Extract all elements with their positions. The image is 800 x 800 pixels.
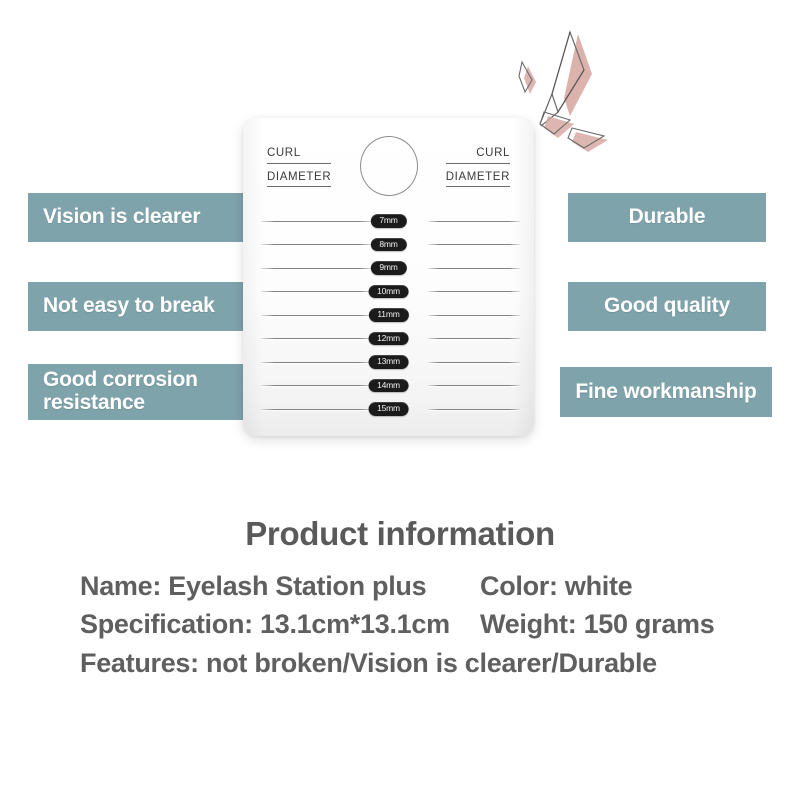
measurement-row: 8mm (243, 234, 534, 256)
info-row-name-color: Name: Eyelash Station plus Color: white (0, 567, 800, 605)
groove-line-right (428, 268, 520, 269)
feature-tag-good-quality: Good quality (568, 282, 766, 331)
feature-tag-good-corrosion-resistance: Good corrosion resistance (28, 364, 243, 420)
size-badge: 7mm (370, 214, 406, 228)
measurement-row: 15mm (243, 398, 534, 420)
feature-tag-label: Durable (629, 206, 706, 229)
info-color-value: Color: white (480, 567, 800, 605)
feature-tag-label: Vision is clearer (43, 206, 200, 229)
feature-tag-label: Fine workmanship (575, 381, 756, 404)
measurement-row: 10mm (243, 281, 534, 303)
tweezer-outline-small-lower-b (568, 128, 604, 148)
tweezer-outline-small-left (519, 62, 532, 92)
feature-tag-label: Good quality (604, 295, 730, 318)
groove-line-right (428, 385, 520, 386)
groove-line-left (261, 315, 373, 316)
groove-line-left (261, 244, 373, 245)
groove-line-left (261, 409, 373, 410)
groove-line-right (428, 409, 520, 410)
groove-line-left (261, 268, 373, 269)
feature-tag-label-multiline: Good corrosion resistance (43, 369, 198, 414)
tweezer-arm-large (540, 32, 570, 124)
curl-label-left: CURL (267, 148, 331, 164)
tweezer-shadow-small-lower-a (544, 116, 574, 138)
size-badge: 12mm (368, 332, 409, 346)
groove-line-right (428, 244, 520, 245)
tweezer-shadow-small-left (524, 66, 536, 94)
info-specification-value: Specification: 13.1cm*13.1cm (80, 605, 480, 643)
feature-tag-vision-is-clearer: Vision is clearer (28, 193, 243, 242)
curl-label-right: CURL (446, 148, 510, 164)
info-row-spec-weight: Specification: 13.1cm*13.1cm Weight: 150… (0, 605, 800, 643)
groove-line-left (261, 291, 373, 292)
groove-line-right (428, 362, 520, 363)
groove-line-right (428, 221, 520, 222)
feature-tag-fine-workmanship: Fine workmanship (560, 367, 772, 417)
groove-line-left (261, 338, 373, 339)
tweezer-outline-large (552, 32, 584, 112)
feature-tag-label-line2: resistance (43, 392, 198, 415)
diameter-label-left: DIAMETER (267, 172, 331, 188)
groove-line-right (428, 291, 520, 292)
device-header-right: CURL DIAMETER (446, 148, 510, 187)
size-badge: 15mm (368, 402, 409, 416)
tweezer-shadow-small-lower-b (572, 132, 608, 152)
measurement-row: 11mm (243, 304, 534, 326)
size-badge: 11mm (368, 308, 408, 322)
measurement-row: 13mm (243, 351, 534, 373)
product-eyelash-station-tile: CURL DIAMETER CURL DIAMETER 7mm8mm9mm10m… (243, 118, 534, 436)
diameter-label-right: DIAMETER (446, 172, 510, 188)
measurement-row: 14mm (243, 375, 534, 397)
size-badge: 8mm (370, 238, 406, 252)
groove-line-left (261, 385, 373, 386)
info-name-value: Name: Eyelash Station plus (80, 567, 480, 605)
tweezer-shadow-large (564, 34, 592, 116)
feature-tag-label: Not easy to break (43, 295, 215, 318)
measurement-row: 9mm (243, 257, 534, 279)
product-information-title: Product information (0, 515, 800, 553)
infographic-page: Vision is clearer Not easy to break Good… (0, 0, 800, 800)
info-row-features: Features: not broken/Vision is clearer/D… (0, 644, 800, 682)
device-header-left: CURL DIAMETER (267, 148, 331, 187)
size-badge: 9mm (370, 261, 406, 275)
product-information-section: Product information Name: Eyelash Statio… (0, 515, 800, 682)
groove-line-right (428, 315, 520, 316)
size-badge: 14mm (368, 379, 409, 393)
groove-line-left (261, 362, 373, 363)
size-badge: 10mm (368, 285, 409, 299)
feature-tag-label-line1: Good corrosion (43, 368, 198, 391)
circle-dial-icon (360, 136, 418, 196)
tweezer-arm2-large (541, 70, 584, 126)
feature-tag-not-easy-to-break: Not easy to break (28, 282, 243, 331)
groove-line-left (261, 221, 373, 222)
measurement-row: 7mm (243, 210, 534, 232)
tweezer-outline-small-lower-a (540, 112, 570, 134)
info-features-value: Features: not broken/Vision is clearer/D… (80, 644, 657, 682)
size-badge: 13mm (368, 355, 409, 369)
groove-line-right (428, 338, 520, 339)
feature-tag-durable: Durable (568, 193, 766, 242)
measurement-rows: 7mm8mm9mm10mm11mm12mm13mm14mm15mm (243, 210, 534, 422)
info-weight-value: Weight: 150 grams (480, 605, 800, 643)
measurement-row: 12mm (243, 328, 534, 350)
